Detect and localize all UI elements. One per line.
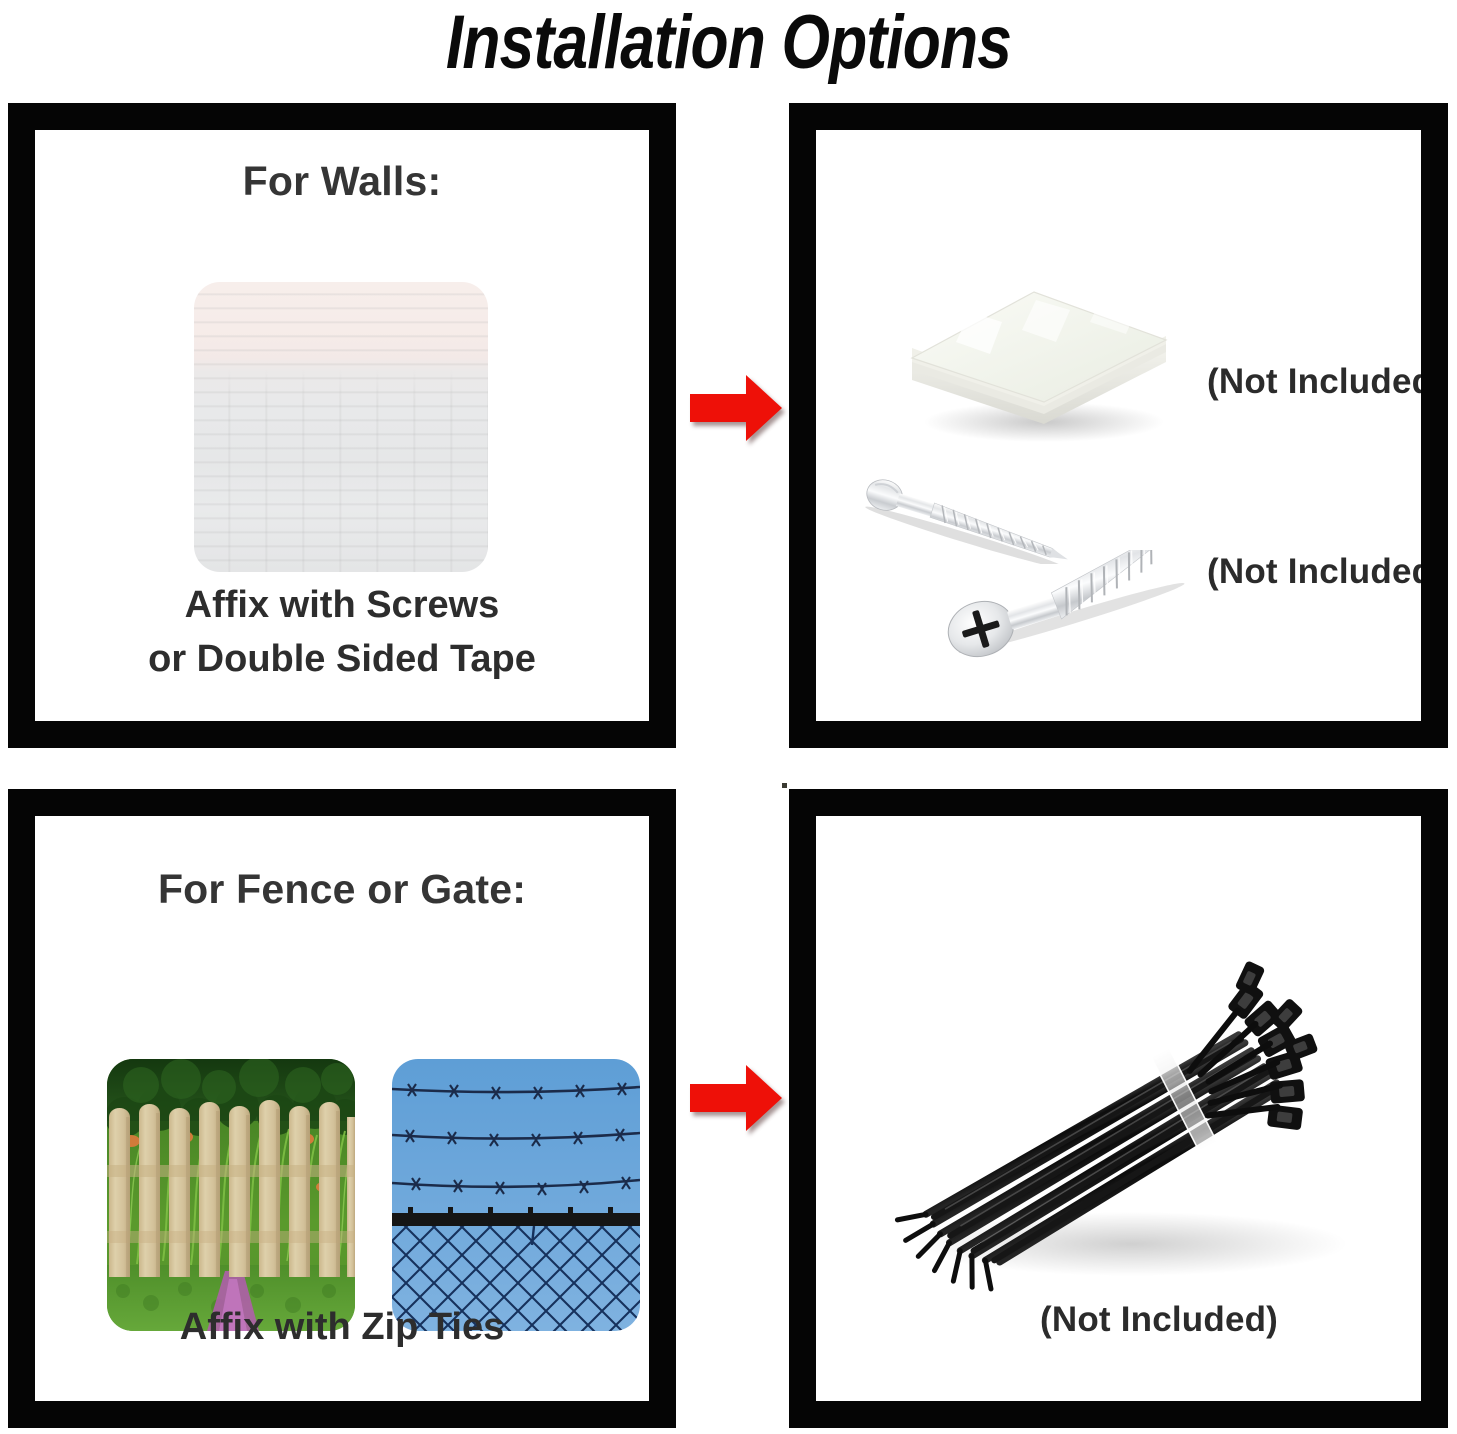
chain-link-fence-photo: [392, 1059, 640, 1331]
panel-for-walls: For Walls: Affix with Screws or Double S…: [8, 103, 676, 748]
wooden-fence-photo: [107, 1059, 355, 1331]
page-title: Installation Options: [131, 0, 1326, 88]
brick-wall-photo: [194, 282, 488, 572]
panel-wall-hardware: (Not Included): [789, 103, 1448, 748]
image-artifact-speck: [782, 783, 787, 788]
panel-fence-hardware-content: (Not Included): [816, 816, 1421, 1401]
zipties-not-included-label: (Not Included): [1040, 1300, 1278, 1340]
screw-lower-icon: [941, 550, 1196, 658]
for-walls-caption-line1: Affix with Screws: [35, 579, 649, 633]
panel-for-fence-or-gate: For Fence or Gate:: [8, 789, 676, 1428]
screws-not-included-label: (Not Included): [1207, 552, 1421, 592]
panel-fence-hardware: (Not Included): [789, 789, 1448, 1428]
right-arrow-icon: [688, 1062, 784, 1134]
panel-for-fence-content: For Fence or Gate:: [35, 816, 649, 1401]
zip-tie-bundle-icon: [882, 944, 1382, 1319]
panel-wall-hardware-content: (Not Included): [816, 130, 1421, 721]
for-walls-caption: Affix with Screws or Double Sided Tape: [35, 579, 649, 687]
panel-for-walls-content: For Walls: Affix with Screws or Double S…: [35, 130, 649, 721]
for-fence-caption-line1: Affix with Zip Ties: [35, 1301, 649, 1355]
for-fence-heading: For Fence or Gate:: [35, 866, 649, 913]
for-walls-caption-line2: or Double Sided Tape: [35, 633, 649, 687]
for-fence-caption: Affix with Zip Ties: [35, 1301, 649, 1355]
for-walls-heading: For Walls:: [35, 158, 649, 205]
right-arrow-icon: [688, 372, 784, 444]
tape-not-included-label: (Not Included): [1207, 362, 1421, 402]
double-sided-tape-stack-icon: [894, 270, 1184, 450]
